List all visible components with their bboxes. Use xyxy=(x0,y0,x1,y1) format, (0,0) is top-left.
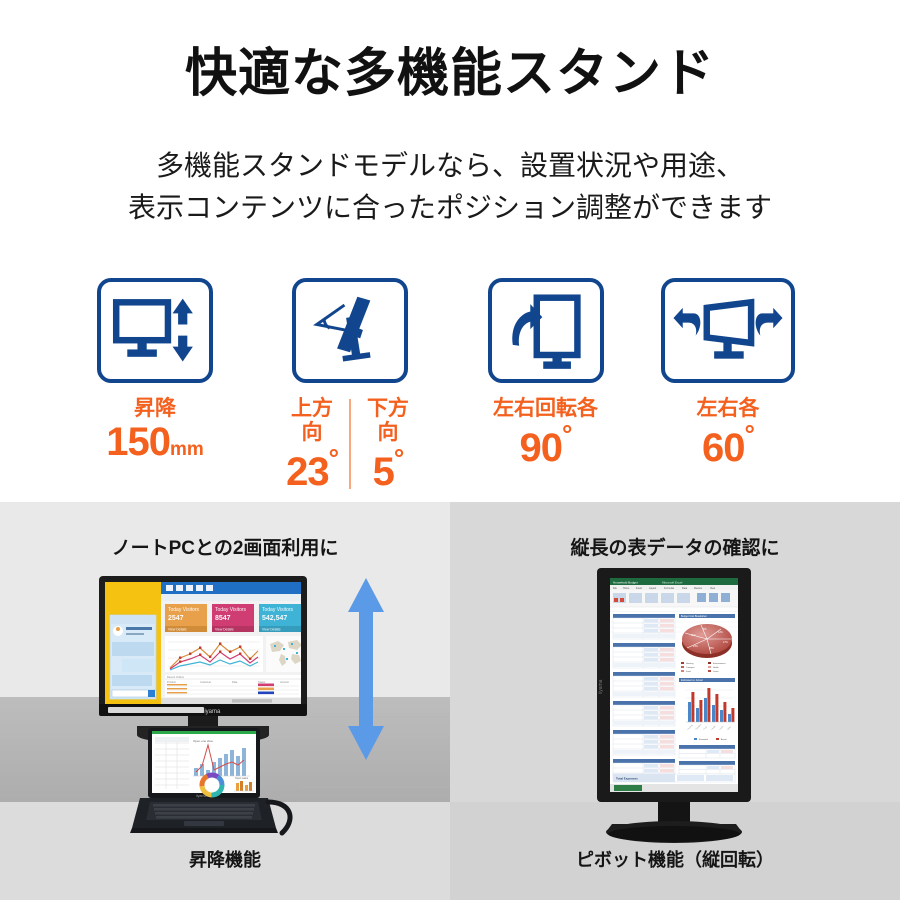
height-arrow xyxy=(348,578,384,760)
svg-text:Transport: Transport xyxy=(686,666,695,669)
panel-left-caption: 昇降機能 xyxy=(0,846,450,872)
svg-text:Entertainment: Entertainment xyxy=(713,662,726,665)
svg-text:Home: Home xyxy=(623,587,630,590)
feature-swivel-degree: ° xyxy=(745,419,754,449)
feature-tilt-down: 下方向 5° xyxy=(351,397,425,493)
feature-tilt-down-label: 下方向 xyxy=(360,397,416,445)
feature-tilt: 上方向 23° 下方向 5° xyxy=(275,278,425,493)
svg-text:Product: Product xyxy=(167,680,176,684)
feature-swivel-label: 左右各 xyxy=(648,397,808,421)
feature-height-adjustment: 昇降 150mm xyxy=(80,278,230,463)
feature-tilt-up: 上方向 23° xyxy=(275,397,349,493)
panel-right-caption: ピボット機能（縦回転） xyxy=(450,846,900,872)
monitor-swivel-icon xyxy=(661,278,795,383)
svg-text:Today Visitors: Today Visitors xyxy=(215,607,247,613)
svg-text:Total Expenses: Total Expenses xyxy=(616,777,638,781)
feature-tilt-up-value: 23° xyxy=(284,445,340,493)
feature-tilt-up-degree: ° xyxy=(329,443,338,473)
feature-height-value: 150mm xyxy=(80,421,230,463)
svg-text:View: View xyxy=(710,587,715,590)
svg-text:Estimated vs. Actual: Estimated vs. Actual xyxy=(681,679,703,682)
feature-pivot-label: 左右回転各 xyxy=(468,397,623,421)
svg-text:View Details: View Details xyxy=(168,628,187,632)
feature-tilt-up-number: 23 xyxy=(286,450,329,494)
svg-text:Review: Review xyxy=(694,587,702,590)
svg-text:2547: 2547 xyxy=(168,615,184,622)
svg-text:iiyama: iiyama xyxy=(203,709,221,715)
feature-height-unit: mm xyxy=(170,439,204,460)
svg-text:Microsoft Excel: Microsoft Excel xyxy=(662,580,683,584)
monitor-pivot-icon xyxy=(488,278,604,383)
svg-text:Food: Food xyxy=(686,671,691,673)
feature-swivel: 左右各 60° xyxy=(648,278,808,469)
svg-text:Recent Orders: Recent Orders xyxy=(167,675,185,679)
monitor-tilt-icon xyxy=(292,278,408,383)
svg-text:Formulas: Formulas xyxy=(664,587,675,590)
feature-tilt-up-label: 上方向 xyxy=(284,397,340,445)
svg-text:8547: 8547 xyxy=(215,615,231,622)
feature-tilt-down-value: 5° xyxy=(360,445,416,493)
svg-text:Amount: Amount xyxy=(280,680,289,684)
svg-text:Layout: Layout xyxy=(649,587,657,590)
svg-text:View Details: View Details xyxy=(215,628,234,632)
svg-text:Budget Cost Breakdown: Budget Cost Breakdown xyxy=(681,615,707,618)
feature-tilt-down-degree: ° xyxy=(394,443,403,473)
subtitle-line-1: 多機能スタンドモデルなら、設置状況や用途、 xyxy=(0,145,900,187)
svg-text:Data: Data xyxy=(682,587,688,590)
svg-text:Health: Health xyxy=(713,666,719,669)
feature-pivot: 左右回転各 90° xyxy=(468,278,623,469)
svg-text:Estimated: Estimated xyxy=(699,738,708,741)
feature-tilt-down-number: 5 xyxy=(373,450,394,494)
page-title: 快適な多機能スタンド xyxy=(0,46,900,103)
svg-text:Open one idea: Open one idea xyxy=(193,739,213,743)
feature-swivel-number: 60 xyxy=(702,426,745,470)
feature-swivel-captions: 左右各 60° xyxy=(648,397,808,469)
svg-text:Housing: Housing xyxy=(686,663,693,665)
svg-text:Open sales: Open sales xyxy=(235,776,249,780)
svg-text:Today Visitors: Today Visitors xyxy=(262,607,294,613)
svg-text:Today Visitors: Today Visitors xyxy=(168,607,200,613)
feature-pivot-value: 90° xyxy=(468,421,623,469)
svg-text:iiyama: iiyama xyxy=(598,679,604,694)
feature-pivot-number: 90 xyxy=(520,426,563,470)
panel-left-artwork: Today VisitorsToday VisitorsToday Visito… xyxy=(0,502,450,900)
subtitle-line-2: 表示コンテンツに合ったポジション調整ができます xyxy=(0,187,900,229)
monitor-height-icon xyxy=(97,278,213,383)
feature-pivot-degree: ° xyxy=(562,419,571,449)
page-subtitle: 多機能スタンドモデルなら、設置状況や用途、 表示コンテンツに合ったポジション調整… xyxy=(0,145,900,229)
svg-text:Insert: Insert xyxy=(636,587,642,590)
svg-text:Household Budget: Household Budget xyxy=(613,580,638,584)
svg-text:View Details: View Details xyxy=(262,628,281,632)
feature-height-captions: 昇降 150mm xyxy=(80,397,230,463)
panel-right-artwork: Household Budget Microsoft Excel FileHom… xyxy=(450,502,900,900)
feature-pivot-captions: 左右回転各 90° xyxy=(468,397,623,469)
svg-text:542,547: 542,547 xyxy=(262,615,287,622)
panel-height-function: ノートPCとの2画面利用に xyxy=(0,502,450,900)
feature-height-label: 昇降 xyxy=(80,397,230,421)
svg-text:Date: Date xyxy=(232,680,238,684)
top-section: 快適な多機能スタンド 多機能スタンドモデルなら、設置状況や用途、 表示コンテンツ… xyxy=(0,0,900,502)
panel-pivot-function: 縦長の表データの確認に Household Budget Micr xyxy=(450,502,900,900)
feature-swivel-value: 60° xyxy=(648,421,808,469)
feature-row: 昇降 150mm xyxy=(0,278,900,478)
product-feature-page: 快適な多機能スタンド 多機能スタンドモデルなら、設置状況や用途、 表示コンテンツ… xyxy=(0,0,900,900)
svg-text:Status: Status xyxy=(258,680,266,684)
feature-tilt-captions: 上方向 23° 下方向 5° xyxy=(275,397,425,493)
svg-text:iiyama: iiyama xyxy=(196,794,206,798)
svg-text:Actual: Actual xyxy=(721,738,727,741)
svg-text:Customer: Customer xyxy=(200,680,211,684)
feature-height-number: 150 xyxy=(106,420,170,464)
svg-text:File: File xyxy=(613,587,618,590)
svg-text:Loans: Loans xyxy=(713,671,718,673)
